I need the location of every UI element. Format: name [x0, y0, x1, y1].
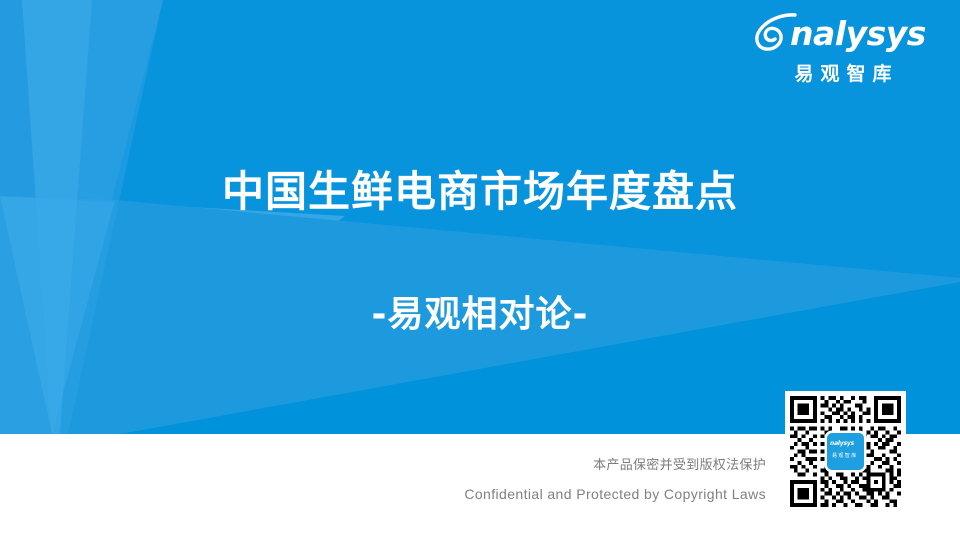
slide-title: 中国生鲜电商市场年度盘点 — [0, 166, 960, 218]
qr-code-panel[interactable]: nalysys 易观智库 — [785, 391, 906, 512]
copyright-english: Confidential and Protected by Copyright … — [0, 484, 766, 504]
qr-badge-wordmark: nalysys — [830, 440, 854, 447]
slide-subtitle: -易观相对论- — [0, 292, 960, 338]
slide-canvas: nalysys 易观智库 中国生鲜电商市场年度盘点 -易观相对论- 本产品保密并… — [0, 0, 960, 540]
logo-wordmark-row: nalysys — [748, 12, 938, 58]
logo-chinese-text: 易观智库 — [748, 59, 938, 86]
qr-badge-chinese: 易观智库 — [832, 452, 858, 459]
analysys-logo: nalysys 易观智库 — [748, 12, 938, 86]
copyright-footer: 本产品保密并受到版权法保护 Confidential and Protected… — [0, 456, 766, 504]
logo-wordmark-text: nalysys — [790, 14, 926, 54]
qr-center-logo-badge: nalysys 易观智库 — [827, 433, 864, 470]
copyright-chinese: 本产品保密并受到版权法保护 — [0, 456, 766, 476]
